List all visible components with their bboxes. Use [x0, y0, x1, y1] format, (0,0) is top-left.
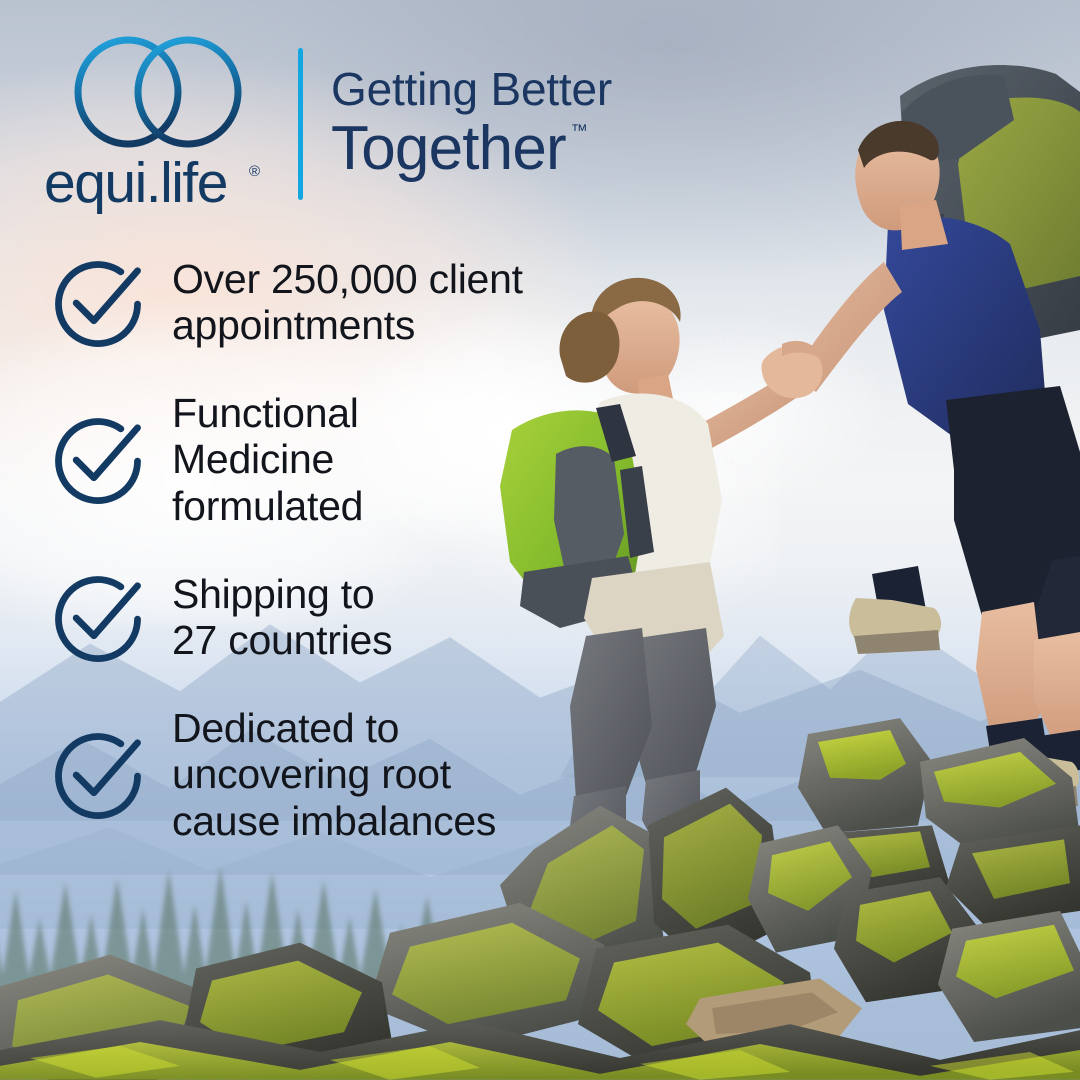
tagline: Getting Better Together ™: [331, 66, 612, 183]
feature-text: Over 250,000 client appointments: [172, 256, 523, 349]
logo-block[interactable]: equi.life ®: [44, 34, 272, 214]
tagline-line-1: Getting Better: [331, 66, 612, 112]
svg-text:®: ®: [249, 163, 260, 180]
feature-item: Functional Medicine formulated: [46, 390, 646, 529]
equilife-wordmark: equi.life ®: [44, 152, 272, 214]
overlay-content: equi.life ® Getting Better Together ™: [0, 0, 1080, 1080]
marketing-banner: equi.life ® Getting Better Together ™: [0, 0, 1080, 1080]
feature-text: Dedicated to uncovering root cause imbal…: [172, 705, 496, 844]
feature-item: Dedicated to uncovering root cause imbal…: [46, 705, 646, 844]
feature-text: Functional Medicine formulated: [172, 390, 363, 529]
tagline-line-2-text: Together: [331, 114, 566, 183]
brand-header: equi.life ® Getting Better Together ™: [44, 34, 612, 214]
feature-text: Shipping to 27 countries: [172, 571, 392, 664]
header-divider: [298, 48, 303, 200]
interlocking-rings-icon: [72, 34, 244, 150]
svg-text:equi.life: equi.life: [44, 152, 227, 214]
circle-check-icon: [46, 722, 150, 826]
circle-check-icon: [46, 407, 150, 511]
circle-check-icon: [46, 250, 150, 354]
trademark-mark: ™: [571, 122, 587, 139]
feature-item: Shipping to 27 countries: [46, 565, 646, 669]
feature-item: Over 250,000 client appointments: [46, 250, 646, 354]
feature-list: Over 250,000 client appointments Functio…: [46, 250, 646, 844]
tagline-line-2: Together ™: [331, 116, 566, 183]
circle-check-icon: [46, 565, 150, 669]
